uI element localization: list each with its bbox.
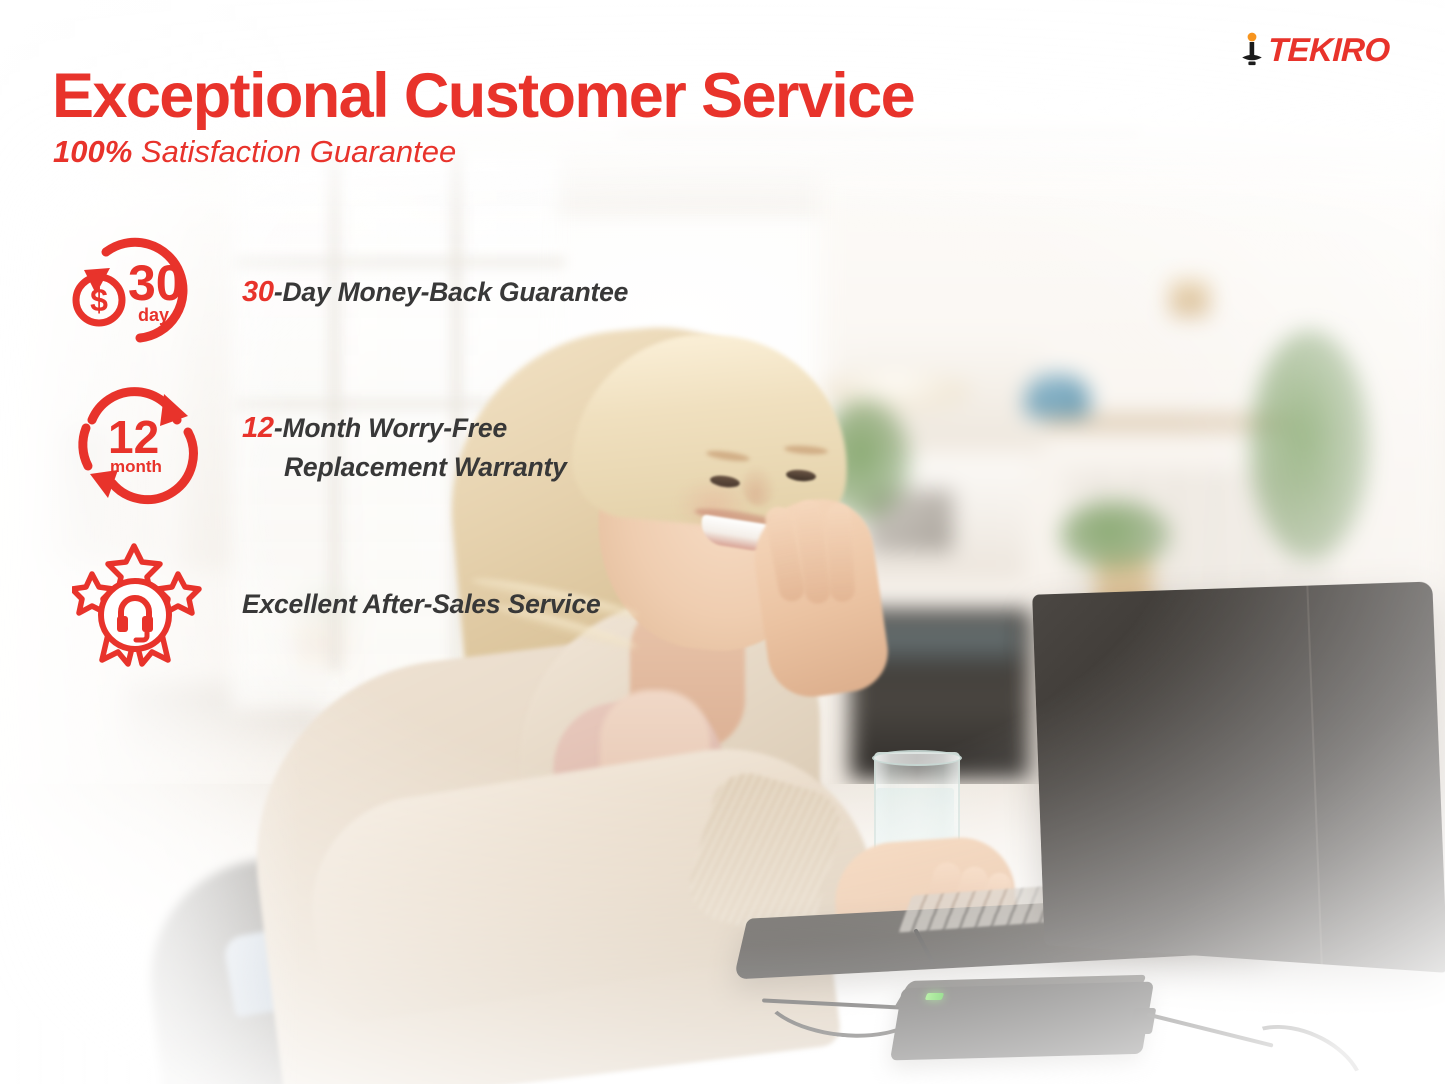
promo-banner: TEKIRO Exceptional Customer Service 100%… [0,0,1445,1084]
subtitle-rest: Satisfaction Guarantee [132,134,456,169]
feature-money-back-text: 30-Day Money-Back Guarantee [242,272,628,313]
feature-lead-30: 30 [242,276,274,308]
subtitle-percent: 100% [53,134,132,169]
tekiro-torch-icon [1239,32,1265,66]
icon-number-12: 12 [108,414,159,460]
brand-logo: TEKIRO [1239,32,1390,66]
feature-after-sales: Excellent After-Sales Service [72,540,601,670]
feature-money-back: $ 30 day 30-Day Money-Back Guarantee [66,228,628,358]
badge-icon-graphic [72,540,212,670]
page-title: Exceptional Customer Service [52,63,914,129]
feature-body-line2: Replacement Warranty [242,449,567,487]
feature-body-text: -Month Worry-Free [274,413,507,443]
icon-sublabel-day: day [138,306,169,324]
page-subtitle: 100% Satisfaction Guarantee [53,134,456,170]
twelve-month-warranty-icon: 12 month [72,382,212,512]
feature-warranty: 12 month 12-Month Worry-FreeReplacement … [72,382,567,512]
thirty-day-money-back-icon: $ 30 day [66,228,206,358]
svg-text:$: $ [90,282,108,318]
logo-wordmark: TEKIRO [1268,33,1391,66]
after-sales-service-badge-icon [72,540,212,670]
feature-warranty-text: 12-Month Worry-FreeReplacement Warranty [242,408,567,487]
icon-sublabel-month: month [110,458,162,475]
feature-body-text: -Day Money-Back Guarantee [274,277,628,307]
feature-lead-12: 12 [242,412,274,444]
icon-number-30: 30 [128,258,184,308]
feature-after-sales-text: Excellent After-Sales Service [242,586,601,624]
content-overlay: TEKIRO Exceptional Customer Service 100%… [0,0,1445,1084]
